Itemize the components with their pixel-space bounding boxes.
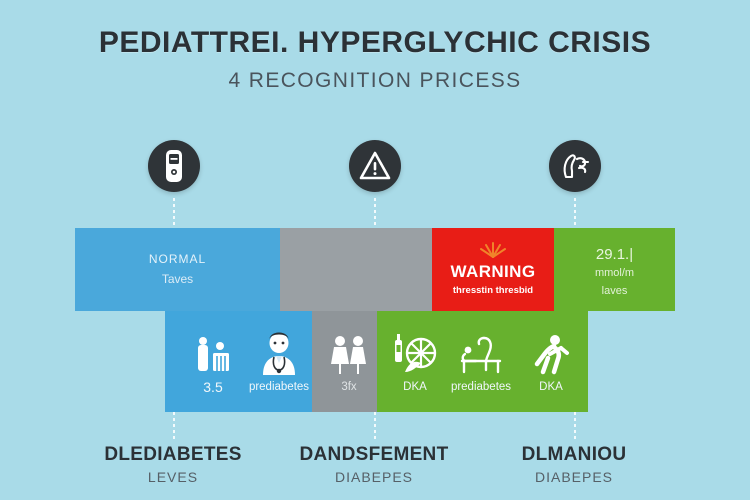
segment-warning[interactable]: WARNING thresstin thresbid [432, 228, 554, 311]
list-item-caption: DKA [403, 381, 427, 393]
segment-green-value: 29.1.| [554, 246, 675, 263]
connector-line-top-2 [374, 198, 376, 228]
list-item-caption: 3.5 [203, 379, 222, 395]
segment-warning-label: WARNING [432, 262, 554, 282]
doctor-icon [255, 330, 303, 376]
bottom-label-1-sub: LEVES [63, 469, 283, 485]
glucose-meter-icon [148, 140, 200, 192]
two-people-icon [326, 330, 372, 376]
list-item-caption: DKA [539, 381, 563, 393]
hand-gesture-icon [549, 140, 601, 192]
patient-chart-icon [192, 328, 234, 374]
bottom-label-3: DLMANIOU DIABEPES [464, 444, 684, 485]
list-item[interactable]: 3fx [311, 311, 387, 412]
icon-row [0, 138, 750, 200]
header: PEDIATTREI. HYPERGLYCHIC CRISIS 4 RECOGN… [0, 26, 750, 93]
list-item[interactable]: DKA [513, 311, 589, 412]
segment-normal-label: NORMAL [75, 252, 280, 266]
segment-green-sublabel: laves [554, 285, 675, 297]
lower-bar: 3.5 prediabetes [165, 311, 588, 412]
connector-line-bottom-1 [173, 412, 175, 440]
list-item[interactable]: prediabetes [241, 311, 317, 412]
connector-line-bottom-3 [574, 412, 576, 440]
list-item[interactable]: prediabetes [443, 311, 519, 412]
list-item[interactable]: 3.5 [175, 311, 251, 412]
connector-line-bottom-2 [374, 412, 376, 440]
connector-line-top-3 [574, 198, 576, 228]
list-item[interactable]: DKA [377, 311, 453, 412]
upper-bar: NORMAL Taves WARNING thresstin thresbid [75, 228, 675, 311]
segment-green[interactable]: 29.1.| mmol/m laves [554, 228, 675, 311]
bottom-label-2-main: DANDSFEMENT [264, 444, 484, 466]
infographic-canvas: PEDIATTREI. HYPERGLYCHIC CRISIS 4 RECOGN… [0, 0, 750, 500]
sunburst-icon [478, 240, 508, 263]
bottom-label-1: DLEDIABETES LEVES [63, 444, 283, 485]
warning-triangle-icon [349, 140, 401, 192]
segment-normal[interactable]: NORMAL Taves [75, 228, 280, 311]
segment-green-unit: mmol/m [554, 267, 675, 279]
segment-warning-sublabel: thresstin thresbid [432, 285, 554, 296]
segment-gray-left[interactable] [280, 228, 357, 311]
connector-line-top-1 [173, 198, 175, 228]
page-subtitle: 4 RECOGNITION PRICESS [0, 69, 750, 93]
bottom-label-2-sub: DIABEPES [264, 469, 484, 485]
bottom-label-1-main: DLEDIABETES [63, 444, 283, 466]
syringe-wheel-icon [391, 330, 439, 376]
list-item-caption: 3fx [341, 381, 356, 393]
segment-gray-right[interactable] [357, 228, 432, 311]
desk-sitting-icon [456, 330, 506, 376]
running-person-icon [530, 330, 572, 376]
bottom-label-3-main: DLMANIOU [464, 444, 684, 466]
bottom-label-2: DANDSFEMENT DIABEPES [264, 444, 484, 485]
list-item-caption: prediabetes [249, 381, 309, 393]
bottom-label-row: DLEDIABETES LEVES DANDSFEMENT DIABEPES D… [0, 444, 750, 494]
list-item-caption: prediabetes [451, 381, 511, 393]
page-title: PEDIATTREI. HYPERGLYCHIC CRISIS [0, 26, 750, 59]
segment-normal-sublabel: Taves [75, 272, 280, 286]
bottom-label-3-sub: DIABEPES [464, 469, 684, 485]
